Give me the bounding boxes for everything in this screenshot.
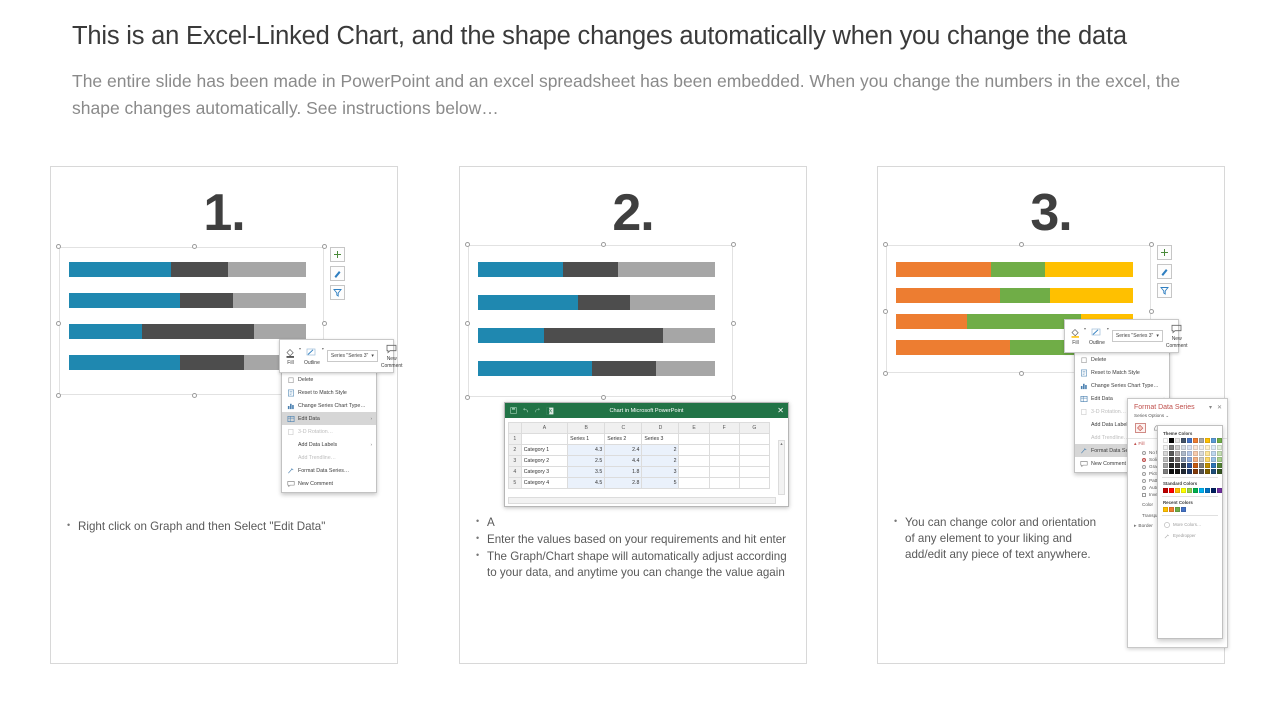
context-menu-item[interactable]: Add Data Labels› <box>282 438 376 451</box>
standard-color-swatch[interactable] <box>1205 488 1210 493</box>
fill-header-label: Fill <box>1138 442 1144 447</box>
theme-color-swatch[interactable] <box>1211 463 1216 468</box>
resize-handle-mr[interactable] <box>1149 309 1154 314</box>
comment-icon <box>385 343 398 355</box>
table-cell[interactable] <box>521 434 567 445</box>
theme-color-swatch[interactable] <box>1211 445 1216 450</box>
theme-color-swatch[interactable] <box>1163 463 1168 468</box>
resize-handle-ml[interactable] <box>883 309 888 314</box>
table-cell[interactable] <box>739 467 769 478</box>
chevron-down-icon[interactable]: ▾ <box>371 353 374 359</box>
bar-row[interactable] <box>896 262 1133 277</box>
pin-icon[interactable]: ▾ <box>1209 404 1212 411</box>
chart-filters-icon[interactable] <box>1157 283 1172 298</box>
bar-row[interactable] <box>478 328 715 343</box>
theme-colors-top-row[interactable] <box>1163 438 1219 443</box>
mini-toolbar[interactable]: Fill ▾ Outline ▾ Series "Series 3" ▾ New… <box>279 339 394 373</box>
theme-color-swatch[interactable] <box>1217 445 1222 450</box>
new-comment-button[interactable]: New Comment <box>1166 323 1188 349</box>
table-row[interactable]: 1Series 1Series 2Series 3 <box>509 434 770 445</box>
standard-color-swatch[interactable] <box>1163 488 1168 493</box>
recent-color-swatch[interactable] <box>1163 507 1168 512</box>
theme-colors-shades[interactable] <box>1163 445 1219 474</box>
stacked-bars <box>69 256 306 386</box>
table-cell[interactable]: 3 <box>642 467 679 478</box>
table-cell[interactable]: 4.4 <box>605 456 642 467</box>
edit-data-icon <box>1078 394 1089 404</box>
divider <box>1162 496 1218 497</box>
fill-caret-icon[interactable]: ▾ <box>1084 326 1086 331</box>
table-cell[interactable] <box>679 467 709 478</box>
row-header[interactable]: 2 <box>509 445 522 456</box>
list-item: • You can change color and orientation o… <box>894 515 1102 563</box>
theme-color-swatch[interactable] <box>1175 438 1180 443</box>
bar-row[interactable] <box>896 288 1133 303</box>
new-comment-button[interactable]: New Comment <box>381 343 403 369</box>
bar-segment-series1[interactable] <box>478 295 578 310</box>
context-menu-item[interactable]: Reset to Match Style <box>1075 366 1169 379</box>
table-cell[interactable] <box>679 434 709 445</box>
table-cell[interactable]: Series 1 <box>568 434 605 445</box>
chevron-down-icon[interactable]: ⌄ <box>1165 413 1169 418</box>
bar-segment-series1[interactable] <box>896 314 967 329</box>
theme-color-swatch[interactable] <box>1175 445 1180 450</box>
series-select-value: Series "Series 3" <box>331 353 368 359</box>
resize-handle-tr[interactable] <box>1149 242 1154 247</box>
context-menu-item[interactable]: Format Data Series… <box>282 464 376 477</box>
bar-segment-series3[interactable] <box>254 324 306 339</box>
delete-icon <box>1078 355 1089 365</box>
mini-toolbar[interactable]: Fill ▾ Outline ▾ Series "Series 3" ▾ New… <box>1064 319 1179 353</box>
radio-icon[interactable] <box>1142 451 1146 455</box>
table-cell[interactable]: Category 4 <box>521 478 567 489</box>
menu-item-icon <box>1078 433 1089 443</box>
bar-segment-series1[interactable] <box>69 355 180 370</box>
recent-color-swatch[interactable] <box>1181 507 1186 512</box>
list-item: • A <box>476 515 794 531</box>
bar-segment-series1[interactable] <box>896 262 991 277</box>
resize-handle-bc[interactable] <box>601 395 606 400</box>
context-menu-item[interactable]: New Comment <box>282 477 376 490</box>
theme-color-swatch[interactable] <box>1199 451 1204 456</box>
outline-caret-icon[interactable]: ▾ <box>1107 326 1109 331</box>
theme-color-swatch[interactable] <box>1193 445 1198 450</box>
theme-color-swatch[interactable] <box>1169 438 1174 443</box>
more-colors-item[interactable]: More Colors… <box>1161 519 1219 530</box>
resize-handle-tl[interactable] <box>465 242 470 247</box>
resize-handle-tr[interactable] <box>731 242 736 247</box>
theme-color-swatch[interactable] <box>1175 451 1180 456</box>
theme-color-swatch[interactable] <box>1181 463 1186 468</box>
theme-color-swatch[interactable] <box>1199 469 1204 474</box>
column-header[interactable]: E <box>679 423 709 434</box>
color-picker-flyout[interactable]: Theme Colors Standard Colors Recent Colo… <box>1157 425 1223 639</box>
bar-segment-series2[interactable] <box>180 293 232 308</box>
theme-color-swatch[interactable] <box>1169 451 1174 456</box>
context-menu-item[interactable]: Delete <box>1075 353 1169 366</box>
checkbox-icon[interactable] <box>1142 493 1146 497</box>
bar-segment-series2[interactable] <box>1000 288 1050 303</box>
table-cell[interactable]: 2.4 <box>605 445 642 456</box>
outline-caret-icon[interactable]: ▾ <box>322 346 324 351</box>
vertical-scrollbar[interactable]: ▴ <box>778 440 785 495</box>
bar-segment-series2[interactable] <box>544 328 663 343</box>
excel-grid[interactable]: ABCDEFG 1Series 1Series 2Series 32Catego… <box>505 418 788 506</box>
bar-segment-series2[interactable] <box>592 361 656 376</box>
table-cell[interactable]: 2.5 <box>568 456 605 467</box>
table-cell[interactable] <box>739 478 769 489</box>
chart-elements-icon[interactable] <box>330 247 345 262</box>
theme-color-swatch[interactable] <box>1169 457 1174 462</box>
bar-segment-series3[interactable] <box>656 361 715 376</box>
triangle-icon[interactable]: ▸ <box>1134 524 1136 529</box>
excel-icon[interactable]: X <box>545 406 554 415</box>
context-menu-item[interactable]: Reset to Match Style <box>282 386 376 399</box>
resize-handle-tl[interactable] <box>56 244 61 249</box>
excel-window[interactable]: X Chart in Microsoft PowerPoint ✕ ABCDEF… <box>504 402 789 507</box>
table-row[interactable]: 5Category 44.52.85 <box>509 478 770 489</box>
recent-color-swatch[interactable] <box>1169 507 1174 512</box>
table-row[interactable]: 2Category 14.32.42 <box>509 445 770 456</box>
undo-icon[interactable] <box>521 406 530 415</box>
theme-color-swatch[interactable] <box>1193 469 1198 474</box>
fill-caret-icon[interactable]: ▾ <box>299 346 301 351</box>
bar-segment-series3[interactable] <box>618 262 715 277</box>
theme-color-swatch[interactable] <box>1217 451 1222 456</box>
resize-handle-tc[interactable] <box>192 244 197 249</box>
chart-styles-icon[interactable] <box>330 266 345 281</box>
slide-header: This is an Excel-Linked Chart, and the s… <box>72 22 1212 121</box>
column-header[interactable]: A <box>521 423 567 434</box>
theme-color-swatch[interactable] <box>1205 463 1210 468</box>
table-cell[interactable]: Series 2 <box>605 434 642 445</box>
close-icon[interactable]: ✕ <box>1217 404 1222 411</box>
theme-color-swatch[interactable] <box>1199 445 1204 450</box>
reset-style-icon <box>285 388 296 398</box>
bar-segment-series2[interactable] <box>171 262 228 277</box>
comment-icon <box>1170 323 1183 335</box>
column-header[interactable]: C <box>605 423 642 434</box>
resize-handle-ml[interactable] <box>56 321 61 326</box>
bar-segment-series2[interactable] <box>578 295 630 310</box>
table-cell[interactable] <box>709 478 739 489</box>
outline-button[interactable]: Outline <box>304 347 320 366</box>
column-header[interactable] <box>509 423 522 434</box>
resize-handle-ml[interactable] <box>465 321 470 326</box>
eyedropper-item[interactable]: Eyedropper <box>1161 530 1219 541</box>
table-body[interactable]: 1Series 1Series 2Series 32Category 14.32… <box>509 434 770 489</box>
resize-handle-bc[interactable] <box>1019 371 1024 376</box>
table-cell[interactable] <box>709 456 739 467</box>
theme-color-swatch[interactable] <box>1163 469 1168 474</box>
bullet-dot: • <box>476 532 487 548</box>
standard-color-swatch[interactable] <box>1193 488 1198 493</box>
theme-color-swatch[interactable] <box>1205 469 1210 474</box>
chart-side-buttons[interactable] <box>1157 245 1173 302</box>
table-cell[interactable]: 2 <box>642 456 679 467</box>
resize-handle-tl[interactable] <box>883 242 888 247</box>
series-select-value: Series "Series 3" <box>1116 333 1153 339</box>
theme-color-swatch[interactable] <box>1187 463 1192 468</box>
theme-color-swatch[interactable] <box>1217 438 1222 443</box>
row-header[interactable]: 4 <box>509 467 522 478</box>
column-header[interactable]: F <box>709 423 739 434</box>
fill-icon <box>1069 327 1082 339</box>
theme-color-swatch[interactable] <box>1205 438 1210 443</box>
theme-color-swatch[interactable] <box>1211 438 1216 443</box>
table-cell[interactable]: Category 1 <box>521 445 567 456</box>
theme-color-swatch[interactable] <box>1169 463 1174 468</box>
redo-icon[interactable] <box>533 406 542 415</box>
triangle-icon[interactable]: ▴ <box>1134 442 1136 447</box>
theme-color-swatch[interactable] <box>1187 457 1192 462</box>
context-menu-item[interactable]: Edit Data› <box>282 412 376 425</box>
bar-segment-series3[interactable] <box>228 262 306 277</box>
table-cell[interactable] <box>679 478 709 489</box>
theme-color-swatch[interactable] <box>1175 463 1180 468</box>
fill-button[interactable]: Fill <box>1069 327 1082 346</box>
chart-side-buttons[interactable] <box>330 247 346 304</box>
format-pane-subtitle[interactable]: Series Options ⌄ <box>1128 413 1227 422</box>
resize-handle-bl[interactable] <box>465 395 470 400</box>
table-cell[interactable]: 1.8 <box>605 467 642 478</box>
table-cell[interactable]: 2 <box>642 445 679 456</box>
bar-row[interactable] <box>69 355 306 370</box>
theme-color-swatch[interactable] <box>1181 451 1186 456</box>
chevron-down-icon[interactable]: ▾ <box>1156 333 1159 339</box>
resize-handle-br[interactable] <box>731 395 736 400</box>
column-header[interactable]: B <box>568 423 605 434</box>
table-cell[interactable] <box>739 445 769 456</box>
theme-color-swatch[interactable] <box>1211 469 1216 474</box>
theme-color-swatch[interactable] <box>1187 438 1192 443</box>
radio-icon[interactable] <box>1142 458 1146 462</box>
theme-color-swatch[interactable] <box>1187 445 1192 450</box>
bar-segment-series1[interactable] <box>896 340 1010 355</box>
standard-color-swatch[interactable] <box>1187 488 1192 493</box>
standard-colors-row[interactable] <box>1163 488 1219 493</box>
bar-segment-series1[interactable] <box>69 293 180 308</box>
bar-segment-series3[interactable] <box>1050 288 1133 303</box>
radio-icon[interactable] <box>1142 472 1146 476</box>
bar-segment-series1[interactable] <box>896 288 1000 303</box>
step-number-3: 3. <box>878 183 1224 243</box>
table-cell[interactable]: 4.5 <box>568 478 605 489</box>
table-cell[interactable]: Category 2 <box>521 456 567 467</box>
context-menu-item[interactable]: Delete <box>282 373 376 386</box>
radio-icon[interactable] <box>1142 486 1146 490</box>
spreadsheet-table[interactable]: ABCDEFG 1Series 1Series 2Series 32Catego… <box>508 422 770 489</box>
theme-color-swatch[interactable] <box>1205 457 1210 462</box>
resize-handle-mr[interactable] <box>322 321 327 326</box>
theme-color-swatch[interactable] <box>1199 463 1204 468</box>
eyedropper-label: Eyedropper <box>1173 533 1196 538</box>
bar-segment-series1[interactable] <box>478 361 592 376</box>
context-menu-item-label: New Comment <box>1091 461 1126 467</box>
series-select[interactable]: Series "Series 3" ▾ <box>327 350 378 362</box>
bar-segment-series1[interactable] <box>69 324 142 339</box>
bar-segment-series2[interactable] <box>180 355 244 370</box>
theme-color-swatch[interactable] <box>1211 457 1216 462</box>
standard-color-swatch[interactable] <box>1175 488 1180 493</box>
table-cell[interactable] <box>739 434 769 445</box>
quick-access-toolbar[interactable]: X <box>509 406 554 415</box>
chart-styles-icon[interactable] <box>1157 264 1172 279</box>
outline-icon <box>1090 327 1103 339</box>
theme-color-swatch[interactable] <box>1199 457 1204 462</box>
outline-button[interactable]: Outline <box>1089 327 1105 346</box>
save-icon[interactable] <box>509 406 518 415</box>
row-header[interactable]: 3 <box>509 456 522 467</box>
chart-object-2[interactable] <box>468 245 733 397</box>
bar-segment-series2[interactable] <box>142 324 253 339</box>
theme-color-swatch[interactable] <box>1193 457 1198 462</box>
theme-color-swatch[interactable] <box>1163 457 1168 462</box>
radio-icon[interactable] <box>1142 465 1146 469</box>
resize-handle-bl[interactable] <box>883 371 888 376</box>
table-cell[interactable] <box>709 467 739 478</box>
bar-segment-series1[interactable] <box>69 262 171 277</box>
bar-segment-series2[interactable] <box>563 262 618 277</box>
new-comment-label-2: Comment <box>381 363 403 369</box>
list-item-label: The Graph/Chart shape will automatically… <box>487 549 794 581</box>
border-header-label: Border <box>1138 524 1152 529</box>
bar-row[interactable] <box>478 361 715 376</box>
resize-handle-mr[interactable] <box>731 321 736 326</box>
standard-color-swatch[interactable] <box>1217 488 1222 493</box>
fill-line-tab[interactable] <box>1135 423 1146 433</box>
row-header[interactable]: 1 <box>509 434 522 445</box>
table-cell[interactable] <box>679 445 709 456</box>
theme-color-swatch[interactable] <box>1217 469 1222 474</box>
bar-row[interactable] <box>69 324 306 339</box>
bar-row[interactable] <box>478 262 715 277</box>
theme-color-swatch[interactable] <box>1193 451 1198 456</box>
theme-color-swatch[interactable] <box>1169 469 1174 474</box>
context-menu-item-label: Add Trendline… <box>298 455 336 461</box>
context-menu-item[interactable]: Change Series Chart Type… <box>282 399 376 412</box>
standard-color-swatch[interactable] <box>1169 488 1174 493</box>
column-header[interactable]: D <box>642 423 679 434</box>
theme-color-swatch[interactable] <box>1163 438 1168 443</box>
theme-color-swatch[interactable] <box>1169 445 1174 450</box>
row-header[interactable]: 5 <box>509 478 522 489</box>
theme-color-swatch[interactable] <box>1181 469 1186 474</box>
table-cell[interactable]: 4.3 <box>568 445 605 456</box>
resize-handle-bc[interactable] <box>192 393 197 398</box>
bar-row[interactable] <box>69 293 306 308</box>
resize-handle-tc[interactable] <box>1019 242 1024 247</box>
theme-color-swatch[interactable] <box>1175 469 1180 474</box>
recent-color-swatch[interactable] <box>1175 507 1180 512</box>
theme-color-swatch[interactable] <box>1193 438 1198 443</box>
menu-item-icon <box>285 453 296 463</box>
bar-segment-series3[interactable] <box>663 328 715 343</box>
theme-color-swatch[interactable] <box>1217 463 1222 468</box>
close-icon[interactable]: ✕ <box>777 407 784 415</box>
resize-handle-tc[interactable] <box>601 242 606 247</box>
table-cell[interactable] <box>679 456 709 467</box>
theme-color-swatch[interactable] <box>1163 445 1168 450</box>
theme-color-swatch[interactable] <box>1199 438 1204 443</box>
bar-segment-series3[interactable] <box>1045 262 1133 277</box>
horizontal-scrollbar[interactable] <box>508 497 776 504</box>
chart-elements-icon[interactable] <box>1157 245 1172 260</box>
context-menu[interactable]: DeleteReset to Match StyleChange Series … <box>281 370 377 493</box>
theme-color-swatch[interactable] <box>1187 451 1192 456</box>
table-cell[interactable] <box>739 456 769 467</box>
table-cell[interactable] <box>709 445 739 456</box>
divider <box>1162 515 1218 516</box>
table-cell[interactable]: Series 3 <box>642 434 679 445</box>
table-cell[interactable]: 3.5 <box>568 467 605 478</box>
scroll-up-icon[interactable]: ▴ <box>779 441 784 447</box>
fill-button[interactable]: Fill <box>284 347 297 366</box>
new-comment-label-1: New <box>1172 336 1182 342</box>
radio-icon[interactable] <box>1142 479 1146 483</box>
table-row[interactable]: 3Category 22.54.42 <box>509 456 770 467</box>
theme-color-swatch[interactable] <box>1181 445 1186 450</box>
bar-segment-series3[interactable] <box>233 293 306 308</box>
context-menu-item-label: Reset to Match Style <box>1091 370 1140 376</box>
theme-color-swatch[interactable] <box>1205 451 1210 456</box>
recent-colors-row[interactable] <box>1163 507 1219 512</box>
theme-color-swatch[interactable] <box>1193 463 1198 468</box>
context-menu-item-label: Change Series Chart Type… <box>298 403 366 409</box>
context-menu-item-label: Edit Data <box>298 416 320 422</box>
theme-color-swatch[interactable] <box>1217 457 1222 462</box>
color-label: Color <box>1142 502 1153 507</box>
theme-color-swatch[interactable] <box>1211 451 1216 456</box>
bar-segment-series1[interactable] <box>478 262 563 277</box>
table-cell[interactable] <box>709 434 739 445</box>
bar-row[interactable] <box>69 262 306 277</box>
theme-color-swatch[interactable] <box>1187 469 1192 474</box>
context-menu-item[interactable]: Change Series Chart Type… <box>1075 379 1169 392</box>
excel-titlebar[interactable]: X Chart in Microsoft PowerPoint ✕ <box>505 403 788 418</box>
theme-color-swatch[interactable] <box>1205 445 1210 450</box>
menu-item-icon <box>285 440 296 450</box>
theme-color-swatch[interactable] <box>1163 451 1168 456</box>
standard-color-swatch[interactable] <box>1211 488 1216 493</box>
more-colors-label: More Colors… <box>1173 522 1201 527</box>
resize-handle-bl[interactable] <box>56 393 61 398</box>
column-header[interactable]: G <box>739 423 769 434</box>
table-cell[interactable]: 5 <box>642 478 679 489</box>
context-menu-item-label: Delete <box>1091 357 1106 363</box>
resize-handle-tr[interactable] <box>322 244 327 249</box>
list-item-label: A <box>487 515 794 531</box>
menu-item-icon <box>1078 420 1089 430</box>
series-select[interactable]: Series "Series 3" ▾ <box>1112 330 1163 342</box>
series-options-label: Series Options <box>1134 413 1164 418</box>
table-cell[interactable]: Category 3 <box>521 467 567 478</box>
bar-row[interactable] <box>478 295 715 310</box>
standard-color-swatch[interactable] <box>1199 488 1204 493</box>
theme-color-swatch[interactable] <box>1175 457 1180 462</box>
bar-segment-series1[interactable] <box>478 328 544 343</box>
bar-segment-series2[interactable] <box>991 262 1046 277</box>
step-number-1: 1. <box>51 183 397 243</box>
theme-color-swatch[interactable] <box>1181 457 1186 462</box>
standard-color-swatch[interactable] <box>1181 488 1186 493</box>
table-row[interactable]: 4Category 33.51.83 <box>509 467 770 478</box>
chart-filters-icon[interactable] <box>330 285 345 300</box>
table-cell[interactable]: 2.8 <box>605 478 642 489</box>
theme-color-swatch[interactable] <box>1181 438 1186 443</box>
bar-segment-series3[interactable] <box>630 295 715 310</box>
list-item-label: You can change color and orientation of … <box>905 515 1102 563</box>
